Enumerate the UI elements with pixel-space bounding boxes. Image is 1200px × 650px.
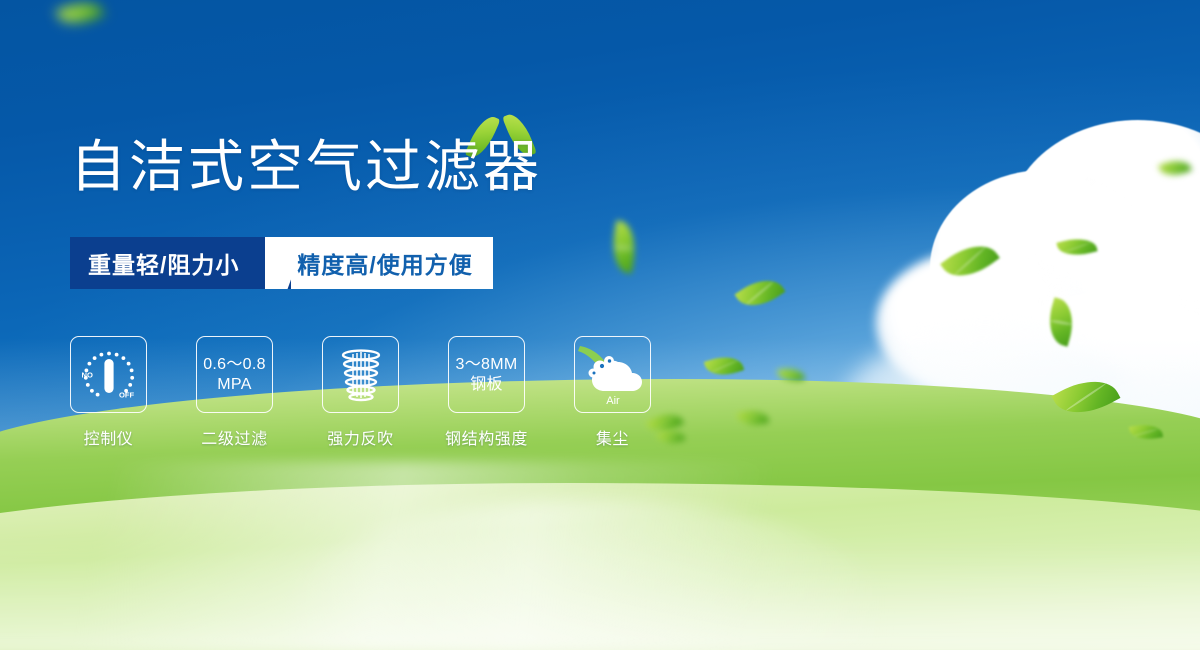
feature-item[interactable]: 3～8MM 钢板 钢结构强度: [448, 336, 525, 449]
subtitle-divider: [265, 237, 291, 289]
control-dial-icon: NO OFF: [76, 342, 142, 408]
feature-list: NO OFF 控制仪 0.6～0.8 MPA 二级过滤: [70, 336, 651, 449]
pressure-text-icon: 0.6～0.8 MPA: [203, 355, 266, 394]
grass-sheen: [0, 461, 1200, 650]
promo-banner: 自洁式空气过滤器 重量轻/阻力小 精度高/使用方便: [0, 0, 1200, 650]
feature-label: 强力反吹: [327, 425, 393, 449]
filter-cartridge-icon: [332, 344, 390, 406]
feature-label: 二级过滤: [201, 425, 267, 449]
page-title: 自洁式空气过滤器: [70, 140, 542, 196]
dial-on-label: NO: [81, 370, 92, 379]
air-label: Air: [606, 395, 620, 407]
feature-label: 集尘: [596, 425, 629, 449]
feature-icon-box: [322, 336, 399, 413]
feature-icon-box: 3～8MM 钢板: [448, 336, 525, 413]
feature-item[interactable]: 0.6～0.8 MPA 二级过滤: [196, 336, 273, 449]
feature-icon-box: NO OFF: [70, 336, 147, 413]
air-cloud-icon: Air: [578, 342, 648, 408]
steel-plate-text-icon: 3～8MM 钢板: [456, 355, 518, 394]
feature-label: 钢结构强度: [445, 425, 528, 449]
subtitle-right-text: 精度高/使用方便: [291, 237, 492, 289]
subtitle-left-text: 重量轻/阻力小: [70, 237, 265, 289]
feature-icon-box: Air: [574, 336, 651, 413]
dial-off-label: OFF: [119, 390, 135, 399]
feature-label: 控制仪: [84, 425, 134, 449]
subtitle-bar: 重量轻/阻力小 精度高/使用方便: [70, 237, 493, 289]
feature-item[interactable]: 强力反吹: [322, 336, 399, 449]
feature-item[interactable]: Air 集尘: [574, 336, 651, 449]
feature-icon-box: 0.6～0.8 MPA: [196, 336, 273, 413]
feature-item[interactable]: NO OFF 控制仪: [70, 336, 147, 449]
